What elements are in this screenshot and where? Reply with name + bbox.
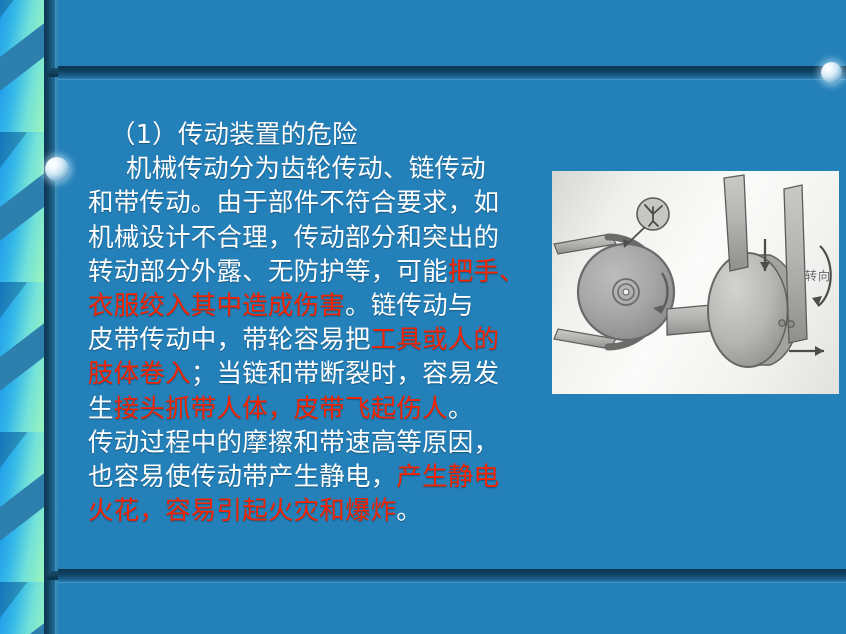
plain-text-run: 机械传动分为齿轮传动、链传动 bbox=[126, 154, 486, 184]
body-line: 衣服绞入其中造成伤害。链传动与 bbox=[88, 289, 548, 323]
slide-body-text: （1）传动装置的危险 机械传动分为齿轮传动、链传动和带传动。由于部件不符合要求，… bbox=[88, 118, 548, 528]
vertical-divider-highlight bbox=[55, 0, 59, 634]
highlighted-text-run: 火花，容易引起火灾和爆炸 bbox=[88, 496, 396, 526]
highlighted-text-run: 衣服绞入其中造成伤害 bbox=[88, 291, 345, 321]
highlighted-text-run: 接头抓带人体，皮带飞起伤人 bbox=[114, 394, 448, 424]
body-line: 和带传动。由于部件不符合要求，如 bbox=[88, 186, 548, 220]
body-line: 肢体卷入；当链和带断裂时，容易发 bbox=[88, 357, 548, 391]
sphere-ornament-top-right bbox=[821, 62, 842, 83]
divider-bar-bottom bbox=[58, 569, 846, 582]
divider-bar-top bbox=[58, 66, 846, 79]
body-line: 转动部分外露、无防护等，可能把手、 bbox=[88, 255, 548, 289]
highlighted-text-run: 工具或人的 bbox=[371, 325, 500, 355]
body-line: 皮带传动中，带轮容易把工具或人的 bbox=[88, 323, 548, 357]
plain-text-run: 和带传动。由于部件不符合要求，如 bbox=[88, 188, 499, 218]
plain-text-run: ；当链和带断裂时，容易发 bbox=[191, 359, 499, 389]
highlighted-text-run: 产生静电 bbox=[396, 462, 499, 492]
plain-text-run: 机械设计不合理，传动部分和突出的 bbox=[88, 223, 499, 253]
belt-pulley-illustration: 转向 bbox=[552, 171, 839, 394]
sphere-ornament-left bbox=[45, 157, 69, 181]
plain-text-run: 也容易使传动带产生静电， bbox=[88, 462, 396, 492]
pulley-diagram-svg bbox=[552, 171, 839, 394]
plain-text-run: 生 bbox=[88, 394, 114, 424]
plain-text-run: 。 bbox=[396, 496, 422, 526]
plain-text-run: 。 bbox=[448, 394, 474, 424]
plain-text-run: 。链传动与 bbox=[345, 291, 474, 321]
slide-canvas: （1）传动装置的危险 机械传动分为齿轮传动、链传动和带传动。由于部件不符合要求，… bbox=[0, 0, 846, 634]
decorative-ribbon-strip bbox=[0, 0, 44, 634]
highlighted-text-run: 肢体卷入 bbox=[88, 359, 191, 389]
body-line: 传动过程中的摩擦和带速高等原因， bbox=[88, 426, 548, 460]
figure-rotation-label: 转向 bbox=[805, 267, 831, 284]
paragraph-lines: 机械传动分为齿轮传动、链传动和带传动。由于部件不符合要求，如机械设计不合理，传动… bbox=[88, 152, 548, 528]
plain-text-run: 皮带传动中，带轮容易把 bbox=[88, 325, 371, 355]
paragraph-heading: （1）传动装置的危险 bbox=[88, 118, 548, 152]
plain-text-run: 传动过程中的摩擦和带速高等原因， bbox=[88, 428, 499, 458]
highlighted-text-run: 把手、 bbox=[448, 257, 525, 287]
body-line: 机械设计不合理，传动部分和突出的 bbox=[88, 221, 548, 255]
body-line: 机械传动分为齿轮传动、链传动 bbox=[88, 152, 548, 186]
body-line: 火花，容易引起火灾和爆炸。 bbox=[88, 494, 548, 528]
body-line: 生接头抓带人体，皮带飞起伤人。 bbox=[88, 392, 548, 426]
plain-text-run: 转动部分外露、无防护等，可能 bbox=[88, 257, 448, 287]
body-line: 也容易使传动带产生静电，产生静电 bbox=[88, 460, 548, 494]
